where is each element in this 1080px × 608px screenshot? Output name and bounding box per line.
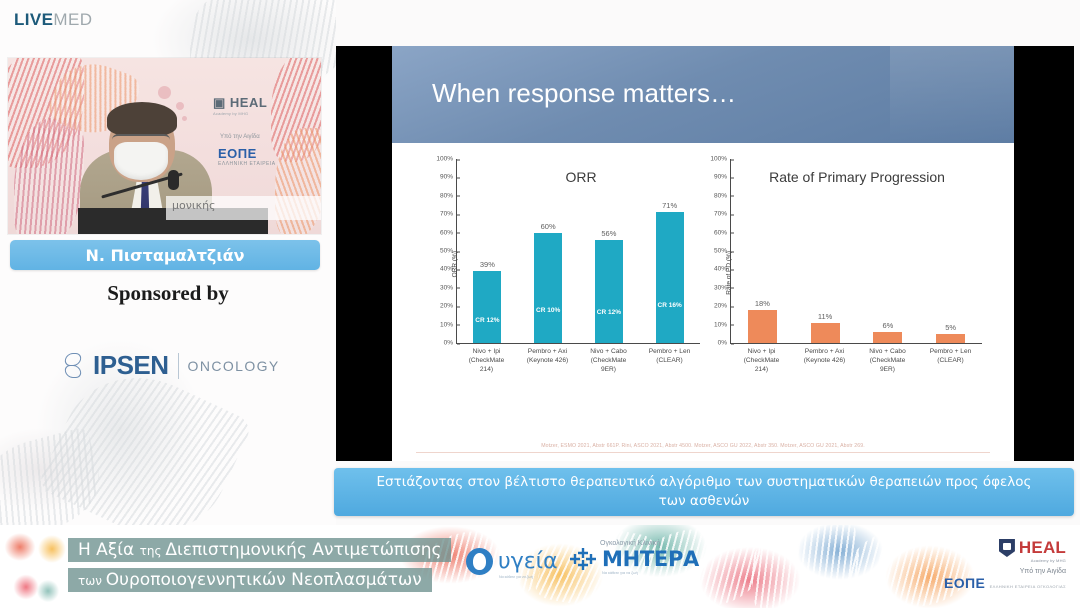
- table-row: 60% CR 10%: [534, 233, 562, 343]
- bar-slot: 18%: [731, 159, 794, 343]
- y-tick: 60%: [714, 229, 731, 236]
- y-tick: 40%: [440, 266, 457, 273]
- mitera-prefix: Ογκολογική Κλινική: [600, 540, 699, 547]
- x-tick: Nivo + Cabo (CheckMate 9ER): [856, 347, 919, 374]
- table-row: 6%: [873, 332, 902, 343]
- y-tick: 30%: [440, 284, 457, 291]
- bubble-art: [176, 102, 184, 110]
- bar-cr-label: CR 10%: [536, 307, 560, 314]
- bar-value-label: 6%: [882, 321, 893, 330]
- y-tick: 30%: [714, 284, 731, 291]
- bar-value-label: 39%: [480, 260, 495, 269]
- y-tick: 100%: [710, 156, 731, 163]
- sponsored-by-label: Sponsored by: [0, 281, 336, 306]
- ygeia-wordmark: υγεία: [498, 549, 558, 574]
- ygeia-mark-icon: [466, 548, 493, 575]
- stage-banner-text: μονικής: [172, 199, 216, 212]
- footer-title-line-1: Η Αξία της Διεπιστημονικής Αντιμετώπισης: [68, 538, 451, 562]
- slide-body: ORR ORR (%) 100% 90% 80% 70% 60% 50% 40%…: [392, 143, 1014, 461]
- chart-orr-bars: 39% CR 12% 60% CR 10% 56: [457, 159, 700, 343]
- eope-wordmark: ΕΟΠΕ ΕΛΛΗΝΙΚΗ ΕΤΑΙΡΕΙΑ ΟΓΚΟΛΟΓΙΑΣ: [944, 575, 1066, 591]
- table-row: 18%: [748, 310, 777, 343]
- heal-logo-video: ▣ HEALAcademy by MHG: [213, 95, 267, 116]
- y-tick: 90%: [714, 174, 731, 181]
- table-row: 71% CR 16%: [656, 212, 684, 343]
- speaker-video-thumbnail[interactable]: ▣ HEALAcademy by MHG Υπό την Αιγίδα ΕΟΠΕ…: [8, 58, 321, 234]
- x-tick: Nivo + Cabo (CheckMate 9ER): [578, 347, 639, 374]
- bar-value-label: 71%: [662, 201, 677, 210]
- mitera-logo: Ογκολογική Κλινική ΜΗΤΕΡΑ Να κάθετε για …: [570, 540, 699, 575]
- speaker-hair: [107, 102, 177, 136]
- x-tick: Pembro + Axi (Keynote 426): [793, 347, 856, 374]
- caption-line-2: των ασθενών: [659, 493, 750, 509]
- x-tick: Nivo + Ipi (CheckMate 214): [730, 347, 793, 374]
- chart-orr: ORR ORR (%) 100% 90% 80% 70% 60% 50% 40%…: [414, 149, 706, 419]
- bar-value-label: 56%: [601, 229, 616, 238]
- session-caption-banner: Εστιάζοντας στον βέλτιστο θεραπευτικό αλ…: [334, 468, 1074, 516]
- table-row: 39% CR 12%: [473, 271, 501, 343]
- slide-title: When response matters…: [432, 78, 736, 109]
- ipsen-division-label: ONCOLOGY: [188, 358, 280, 374]
- speaker-name-badge: Ν. Πισταμαλτζιάν: [10, 240, 320, 270]
- chart-orr-plot: ORR (%) 100% 90% 80% 70% 60% 50% 40% 30%…: [456, 159, 700, 344]
- bar-cr-label: CR 12%: [475, 317, 499, 324]
- y-tick: 70%: [440, 211, 457, 218]
- heal-wordmark: HEAL: [1019, 538, 1066, 558]
- bar-cr-label: CR 16%: [658, 302, 682, 309]
- divider: [178, 353, 179, 379]
- table-row: 56% CR 12%: [595, 240, 623, 343]
- x-tick: Pembro + Len (CLEAR): [919, 347, 982, 374]
- y-tick: 80%: [440, 192, 457, 199]
- y-tick: 0%: [444, 340, 457, 347]
- brand-live: LIVE: [14, 10, 53, 29]
- table-row: 5%: [936, 334, 965, 343]
- bar-slot: 6%: [857, 159, 920, 343]
- y-tick: 0%: [718, 340, 731, 347]
- eope-tag-video: ΕΛΛΗΝΙΚΗ ΕΤΑΙΡΕΙΑ: [218, 161, 276, 167]
- bar-value-label: 18%: [755, 299, 770, 308]
- y-tick: 80%: [714, 192, 731, 199]
- bar-slot: 56% CR 12%: [579, 159, 640, 343]
- eope-text-video: ΕΟΠΕ: [218, 146, 257, 161]
- bar-slot: 60% CR 10%: [518, 159, 579, 343]
- y-tick: 70%: [714, 211, 731, 218]
- slide-citation: Motzer, ESMO 2021, Abstr 661P. Rini, ASC…: [392, 443, 1014, 449]
- chart-primary-progression: Rate of Primary Progression Rate of PD (…: [688, 149, 988, 419]
- x-tick: Pembro + Axi (Keynote 426): [517, 347, 578, 374]
- mitera-tagline: Να κάθετε για να ζωή: [602, 571, 699, 575]
- ypo-label-video: Υπό την Αιγίδα: [220, 134, 260, 140]
- slide-video-stage[interactable]: When response matters… ORR ORR (%) 100% …: [336, 46, 1074, 461]
- table-row: 11%: [811, 323, 840, 343]
- y-tick: 40%: [714, 266, 731, 273]
- face-mask: [114, 142, 168, 180]
- stage-banner: μονικής: [166, 196, 321, 220]
- bubble-art: [158, 86, 171, 99]
- medical-cross-icon: [570, 548, 596, 570]
- y-tick: 10%: [440, 321, 457, 328]
- caption-line-1: Εστιάζοντας στον βέλτιστο θεραπευτικό αλ…: [377, 474, 1032, 490]
- shield-icon: [999, 539, 1015, 557]
- bar-slot: 11%: [794, 159, 857, 343]
- slide-divider: [416, 452, 990, 453]
- slide-header-band: When response matters…: [392, 46, 1014, 143]
- heal-subtitle: Academy by MHG: [944, 558, 1066, 563]
- ygeia-logo: υγεία Να κάθετε για να ζωή: [466, 548, 558, 575]
- y-tick: 20%: [714, 303, 731, 310]
- y-tick: 20%: [440, 303, 457, 310]
- bar-value-label: 11%: [818, 312, 832, 321]
- heal-sub-video: Academy by MHG: [213, 111, 267, 116]
- y-tick: 50%: [440, 248, 457, 255]
- bar-value-label: 60%: [541, 222, 556, 231]
- bar-value-label: 5%: [945, 323, 956, 332]
- brand-med: MED: [53, 10, 92, 29]
- eope-logo-video: ΕΟΠΕ ΕΛΛΗΝΙΚΗ ΕΤΑΙΡΕΙΑ: [218, 146, 276, 167]
- y-tick: 90%: [440, 174, 457, 181]
- speaker-name: Ν. Πισταμαλτζιάν: [85, 246, 244, 265]
- x-tick: Nivo + Ipi (CheckMate 214): [456, 347, 517, 374]
- eope-subtitle: ΕΛΛΗΝΙΚΗ ΕΤΑΙΡΕΙΑ ΟΓΚΟΛΟΓΙΑΣ: [990, 584, 1066, 589]
- chart-pd-bars: 18% 11% 6%: [731, 159, 982, 343]
- bubble-art: [182, 116, 187, 121]
- leaf-watermark: [0, 426, 110, 525]
- y-tick: 60%: [440, 229, 457, 236]
- ypo-label: Υπό την Αιγίδα: [944, 568, 1066, 575]
- chart-pd-plot: Rate of PD (%) 100% 90% 80% 70% 60% 50% …: [730, 159, 982, 344]
- bar-slot: 39% CR 12%: [457, 159, 518, 343]
- mitera-wordmark: ΜΗΤΕΡΑ: [602, 547, 699, 571]
- y-tick: 50%: [714, 248, 731, 255]
- y-tick: 10%: [714, 321, 731, 328]
- y-tick: 100%: [436, 156, 457, 163]
- ygeia-tagline: Να κάθετε για να ζωή: [499, 575, 533, 579]
- ipsen-helix-icon: [62, 352, 84, 380]
- footer-stripe: [745, 525, 865, 608]
- presentation-slide: When response matters… ORR ORR (%) 100% …: [392, 46, 1014, 461]
- bar-slot: 5%: [919, 159, 982, 343]
- footer-title-line-2: των Ουροποιογεννητικών Νεοπλασμάτων: [68, 568, 432, 592]
- ipsen-wordmark: IPSEN: [93, 350, 169, 381]
- heal-logo-footer: HEAL Academy by MHG Υπό την Αιγίδα ΕΟΠΕ …: [944, 538, 1066, 591]
- microphone-icon: [168, 170, 179, 190]
- livemed-logo: LIVEMED: [14, 10, 92, 30]
- bar-cr-label: CR 12%: [597, 309, 621, 316]
- kidney-artwork-icon: [4, 529, 70, 608]
- chart-orr-xticks: Nivo + Ipi (CheckMate 214) Pembro + Axi …: [456, 347, 700, 374]
- chart-pd-xticks: Nivo + Ipi (CheckMate 214) Pembro + Axi …: [730, 347, 982, 374]
- ipsen-sponsor-logo: IPSEN ONCOLOGY: [62, 350, 280, 381]
